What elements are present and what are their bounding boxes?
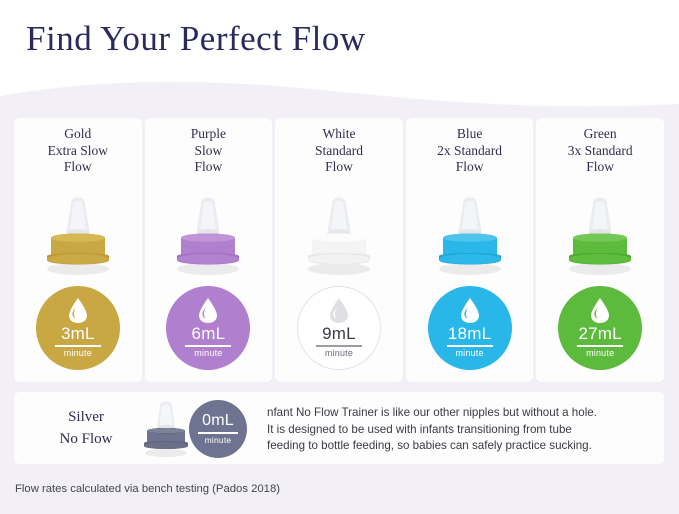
heading-line: Flow (14, 159, 142, 176)
card-heading-green: Green 3x Standard Flow (536, 126, 664, 176)
infographic-page: Find Your Perfect Flow Gold Extra Slow F… (0, 0, 679, 514)
flow-rate-unit: minute (205, 435, 232, 446)
no-flow-heading: Silver No Flow (38, 406, 134, 450)
fraction-rule (316, 345, 362, 346)
page-title: Find Your Perfect Flow (26, 17, 366, 61)
flow-rate-value: 3mL (61, 325, 95, 343)
heading-line: Green (536, 126, 664, 143)
heading-line: Gold (14, 126, 142, 143)
flow-rate-value: 0mL (202, 412, 234, 430)
card-heading-white: White Standard Flow (275, 126, 403, 176)
water-drop-icon (459, 297, 481, 324)
heading-line: Flow (536, 159, 664, 176)
heading-line: Flow (275, 159, 403, 176)
heading-line: Flow (145, 159, 273, 176)
card-heading-blue: Blue 2x Standard Flow (406, 126, 534, 176)
flow-rate-badge-blue: 18mL minute (428, 286, 512, 370)
flow-rate-badge-gold: 3mL minute (36, 286, 120, 370)
bottle-nipple-purple-icon (167, 190, 249, 276)
heading-line: 3x Standard (536, 143, 664, 160)
flow-rate-value: 9mL (322, 325, 356, 343)
heading-line: Flow (406, 159, 534, 176)
flow-rate-unit: minute (64, 348, 92, 359)
flow-rate-badge-green: 27mL minute (558, 286, 642, 370)
card-heading-gold: Gold Extra Slow Flow (14, 126, 142, 176)
water-drop-icon (197, 297, 219, 324)
flow-card-white[interactable]: White Standard Flow 9mL (275, 118, 403, 382)
heading-line: Slow (145, 143, 273, 160)
heading-line: Blue (406, 126, 534, 143)
fraction-rule (447, 345, 493, 346)
flow-card-green[interactable]: Green 3x Standard Flow 27mL (536, 118, 664, 382)
heading-line: Standard (275, 143, 403, 160)
description-line: It is designed to be used with infants t… (267, 422, 657, 439)
flow-rate-badge-white: 9mL minute (297, 286, 381, 370)
flow-rate-badge-silver: 0mL minute (189, 400, 247, 458)
fraction-rule (198, 432, 238, 433)
flow-card-blue[interactable]: Blue 2x Standard Flow 18mL (406, 118, 534, 382)
bottle-nipple-green-icon (559, 190, 641, 276)
flow-rate-value: 6mL (192, 325, 226, 343)
flow-rate-value: 27mL (579, 325, 622, 343)
heading-line: Extra Slow (14, 143, 142, 160)
no-flow-description: nfant No Flow Trainer is like our other … (267, 405, 657, 455)
flow-card-row: Gold Extra Slow Flow 3mL (14, 118, 664, 382)
heading-line: White (275, 126, 403, 143)
fraction-rule (577, 345, 623, 346)
heading-line: 2x Standard (406, 143, 534, 160)
heading-line: No Flow (38, 428, 134, 450)
flow-rate-unit: minute (586, 348, 614, 359)
description-line: nfant No Flow Trainer is like our other … (267, 405, 657, 422)
bottle-nipple-blue-icon (429, 190, 511, 276)
bottle-nipple-gold-icon (37, 190, 119, 276)
card-heading-purple: Purple Slow Flow (145, 126, 273, 176)
description-line: feeding to bottle feeding, so babies can… (267, 438, 657, 455)
flow-rate-value: 18mL (448, 325, 491, 343)
flow-card-gold[interactable]: Gold Extra Slow Flow 3mL (14, 118, 142, 382)
fraction-rule (185, 345, 231, 346)
flow-rate-unit: minute (194, 348, 222, 359)
flow-rate-badge-purple: 6mL minute (166, 286, 250, 370)
heading-line: Silver (38, 406, 134, 428)
water-drop-icon (589, 297, 611, 324)
heading-line: Purple (145, 126, 273, 143)
no-flow-panel[interactable]: Silver No Flow 0mL minute nfant No Flow … (14, 392, 664, 464)
flow-rate-unit: minute (455, 348, 483, 359)
water-drop-icon (328, 297, 350, 324)
bottle-nipple-white-icon (298, 190, 380, 276)
flow-card-purple[interactable]: Purple Slow Flow 6mL (145, 118, 273, 382)
bottle-nipple-silver-icon (138, 400, 194, 458)
footnote: Flow rates calculated via bench testing … (15, 482, 280, 496)
water-drop-icon (67, 297, 89, 324)
fraction-rule (55, 345, 101, 346)
flow-rate-unit: minute (325, 348, 353, 359)
